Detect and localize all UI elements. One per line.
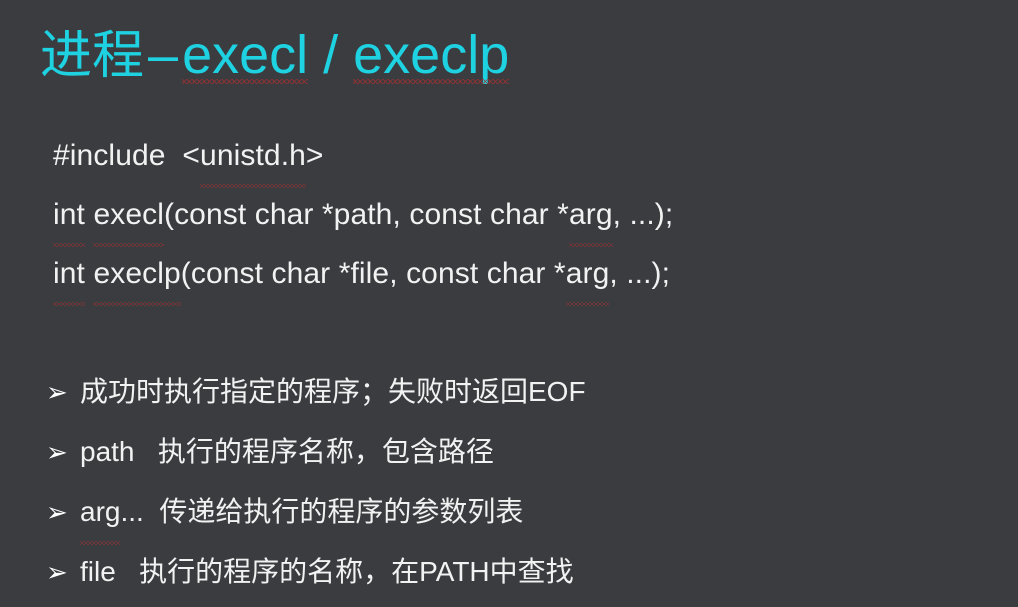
code-block: #include <unistd.h> int execl(const char… xyxy=(53,126,953,303)
bullet-item-file: ➢ file 执行的程序的名称，在PATH中查找 xyxy=(46,542,986,602)
execlp-params-a: (const char *file, const char * xyxy=(181,257,566,290)
arrow-bullet-icon: ➢ xyxy=(46,483,80,543)
slide-title-cjk: 进程 xyxy=(40,26,144,86)
execl-return-type: int xyxy=(53,185,85,244)
slide-title-separator: / xyxy=(308,25,353,85)
slide-title-dash: – xyxy=(144,25,182,85)
execl-function-name: execl xyxy=(93,185,164,244)
execlp-arg-param: arg xyxy=(566,244,610,303)
presentation-slide: 进程–execl / execlp #include <unistd.h> in… xyxy=(0,0,1018,607)
arrow-bullet-icon: ➢ xyxy=(46,543,80,603)
bullet-item-return-value: ➢ 成功时执行指定的程序；失败时返回EOF xyxy=(46,362,986,422)
bullet-item-label: 成功时执行指定的程序；失败时返回EOF xyxy=(80,362,586,422)
execlp-return-type: int xyxy=(53,244,85,303)
bullet-item-label: 执行的程序名称，包含路径 xyxy=(135,422,494,482)
bullet-item-term: arg xyxy=(80,482,120,542)
execlp-space xyxy=(85,257,93,290)
code-line-include: #include <unistd.h> xyxy=(53,126,953,185)
execl-space xyxy=(85,198,93,231)
arrow-bullet-icon: ➢ xyxy=(46,363,80,423)
execl-arg-param: arg xyxy=(569,185,613,244)
execl-params-a: (const char *path, const char * xyxy=(164,198,569,231)
bullet-item-label: ... 传递给执行的程序的参数列表 xyxy=(120,482,523,542)
slide-title-func-execlp: execlp xyxy=(353,28,509,82)
bullet-item-label: 执行的程序的名称，在PATH中查找 xyxy=(116,542,574,602)
include-suffix: > xyxy=(306,139,324,172)
arrow-bullet-icon: ➢ xyxy=(46,423,80,483)
bullet-item-term: path xyxy=(80,422,135,482)
code-line-execl-signature: int execl(const char *path, const char *… xyxy=(53,185,953,244)
include-header-name: unistd.h xyxy=(200,126,306,185)
include-prefix: #include < xyxy=(53,139,200,172)
bullet-item-path: ➢ path 执行的程序名称，包含路径 xyxy=(46,422,986,482)
bullet-item-arg: ➢ arg... 传递给执行的程序的参数列表 xyxy=(46,482,986,542)
bullet-item-term: file xyxy=(80,542,116,602)
code-line-execlp-signature: int execlp(const char *file, const char … xyxy=(53,244,953,303)
slide-title-func-execl: execl xyxy=(182,28,308,82)
slide-title: 进程–execl / execlp xyxy=(40,28,509,82)
execl-params-b: , ...); xyxy=(613,198,674,231)
execlp-params-b: , ...); xyxy=(609,257,670,290)
execlp-function-name: execlp xyxy=(93,244,180,303)
bullet-list: ➢ 成功时执行指定的程序；失败时返回EOF ➢ path 执行的程序名称，包含路… xyxy=(46,362,986,602)
